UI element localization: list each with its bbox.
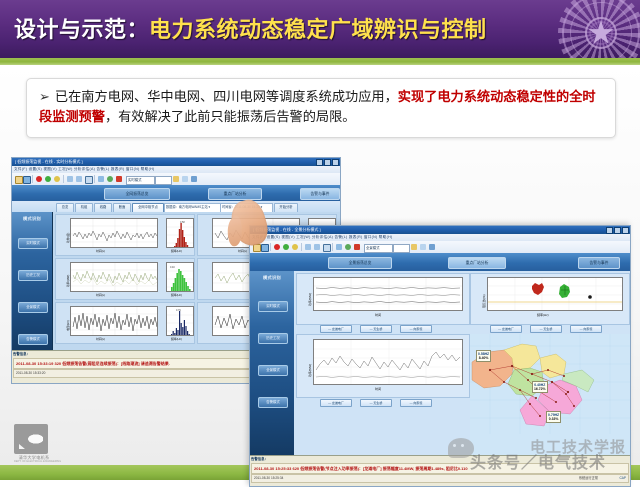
win2-legend-chip-b1[interactable]: — 天生桥 (360, 399, 392, 407)
win2-sidebar-item-alarm[interactable]: 告警模式 (258, 397, 288, 408)
record-icon[interactable] (36, 176, 42, 182)
toolbar-separator (332, 243, 333, 251)
map-tag-1[interactable]: 0.40HZ 16.72% (532, 381, 548, 393)
maximize-icon[interactable] (324, 159, 331, 166)
win2-xlabel-top-right: 频率(Hz) (537, 313, 549, 317)
win2-legend-chip-r0[interactable]: — 龙滩电厂 (490, 325, 522, 333)
tsinghua-seal-icon (558, 0, 640, 58)
select-icon[interactable] (85, 176, 93, 184)
win2-legend-chip-b0[interactable]: — 龙滩电厂 (320, 399, 352, 407)
pause-icon[interactable] (54, 176, 60, 182)
zoom-out-icon[interactable] (76, 176, 82, 182)
win1-status-header: 告警信息： (13, 352, 30, 357)
histogram-xlabel-3: 频率(Hz) (171, 337, 182, 341)
stop-icon[interactable] (116, 176, 122, 182)
waveform-xlabel-2: 时间(s) (96, 293, 105, 297)
refresh-icon[interactable] (107, 176, 113, 182)
win2-ylabel-bottom-left: 功率/(MW) (308, 364, 312, 377)
stop-icon[interactable] (354, 244, 360, 250)
histogram-xlabel-1: 频率(Hz) (171, 249, 182, 253)
win1-sidebar-header: 模式识别 (12, 216, 52, 222)
win2-chart-bottom-left[interactable] (313, 339, 463, 385)
print-icon[interactable] (182, 176, 188, 182)
win2-status-cap: CAP (619, 475, 626, 482)
waveform-ylabel-2: 功率/(MW) (66, 275, 70, 287)
close-icon[interactable] (332, 159, 339, 166)
map-tag-2-hz: 0.79HZ (548, 413, 559, 417)
bullet-segment-3: ，有效解决了此前只能振荡后告警的局限。 (105, 110, 356, 125)
minimize-icon[interactable] (316, 159, 323, 166)
bullet-callout-box: ➢已在南方电网、华中电网、四川电网等调度系统成功应用，实现了电力系统动态稳定性的… (26, 78, 616, 138)
pause-icon[interactable] (292, 244, 298, 250)
lock-icon[interactable] (173, 176, 179, 182)
ribbon-button-0[interactable]: 全网振荡总览 (104, 188, 170, 200)
grid-icon[interactable] (98, 176, 104, 182)
watermark-bottom-text: 头条号／电气技术 (470, 449, 606, 473)
map-tag-0[interactable]: 0.58HZ 8.40% (476, 350, 491, 362)
scale-combo[interactable] (155, 176, 172, 185)
minimize-icon[interactable] (606, 227, 613, 234)
grid-icon[interactable] (336, 244, 342, 250)
win2-sidebar-header: 模式识别 (250, 275, 294, 281)
record-icon[interactable] (274, 244, 280, 250)
map-tag-2-pct: 0.33% (549, 417, 559, 421)
zoom-in-icon[interactable] (67, 176, 73, 182)
win2-status-header: 告警信息： (251, 457, 268, 462)
mode-combo[interactable]: 全景模式 (364, 244, 393, 253)
win2-panel-bottom-left[interactable]: 时间 功率/(MW) (296, 334, 470, 398)
ribbon-button-2[interactable]: 告警与事件 (300, 188, 340, 200)
svg-text:0.40: 0.40 (170, 266, 175, 269)
win2-legend-chip-r1[interactable]: — 天生桥 (530, 325, 562, 333)
win2-sidebar-item-panorama[interactable]: 全景模式 (258, 365, 288, 376)
histogram-plot-2[interactable]: 0.40 (166, 262, 194, 292)
win1-sidebar: 模式识别 实时模式 历史工况 全景模式 告警模式 (12, 212, 53, 351)
zoom-in-icon[interactable] (305, 244, 311, 250)
win2-sidebar-item-history[interactable]: 历史工况 (258, 333, 288, 344)
slide-header: 设计与示范：电力系统动态稳定广域辨识与控制 (0, 0, 640, 58)
scale-combo[interactable] (393, 244, 410, 253)
sidebar-item-history[interactable]: 历史工况 (18, 270, 48, 281)
map-tag-1-pct: 16.72% (534, 387, 546, 391)
new-icon[interactable] (15, 176, 23, 184)
win2-window-controls[interactable] (606, 227, 629, 234)
chart-cell-r1c1[interactable]: 时间(s) 功角/(度) (55, 214, 195, 256)
slide-body: ➢已在南方电网、华中电网、四川电网等调度系统成功应用，实现了电力系统动态稳定性的… (0, 65, 640, 465)
chart-cell-r2c1[interactable]: 时间(s) 功率/(MW) (55, 258, 195, 300)
waveform-ylabel-3: 电压/(kV) (66, 320, 70, 331)
histogram-plot-1[interactable]: 0.58 (166, 218, 194, 248)
win2-legend-chip-l2[interactable]: — 向家坝 (400, 325, 432, 333)
win2-sidebar: 模式识别 实时模式 历史工况 全景模式 告警模式 (250, 271, 295, 456)
sidebar-item-realtime[interactable]: 实时模式 (18, 238, 48, 249)
win2-xlabel-bottom-left: 时间 (375, 387, 381, 391)
svg-text:0.58: 0.58 (180, 221, 185, 224)
waveform-ylabel-1: 功角/(度) (66, 233, 70, 243)
map-tag-0-pct: 8.40% (479, 356, 489, 360)
win1-status-time: 2011-08-30 15:33:20 (16, 371, 45, 375)
select-icon[interactable] (323, 244, 331, 252)
win2-ylabel-top-right: 阻尼比/(%) (482, 294, 486, 308)
close-icon[interactable] (622, 227, 629, 234)
win1-ribbon: 全网振荡总览 重点厂站分析 告警与事件 (12, 185, 340, 202)
win2-panel-top-left[interactable]: 时间 功率/(MW) (296, 273, 470, 325)
map-tag-1-hz: 0.40HZ (534, 383, 545, 387)
win2-ribbon-button-1[interactable]: 重点厂站分析 (448, 257, 506, 269)
waveform-plot-1[interactable] (70, 218, 158, 248)
toolbar-separator (63, 175, 64, 183)
waveform-xlabel-4: 时间(s) (238, 249, 247, 253)
win2-legend-chip-l0[interactable]: — 龙滩电厂 (320, 325, 352, 333)
win1-window-controls[interactable] (316, 159, 339, 166)
lock-icon[interactable] (411, 244, 417, 250)
win2-status-time: 2011-08-30 15:25:34 (254, 476, 283, 480)
waveform-plot-3[interactable] (70, 306, 158, 336)
mode-combo[interactable]: 实时模式 (126, 176, 155, 185)
play-icon[interactable] (283, 244, 289, 250)
histogram-plot-3[interactable]: 0.79 (166, 306, 194, 336)
win2-panel-top-right[interactable]: 频率(Hz) 阻尼比/(%) (470, 273, 630, 325)
bullet-text: 已在南方电网、华中电网、四川电网等调度系统成功应用，实现了电力系统动态稳定性的全… (39, 90, 596, 125)
histogram-xlabel-2: 频率(Hz) (171, 293, 182, 297)
maximize-icon[interactable] (614, 227, 621, 234)
waveform-plot-2[interactable] (70, 262, 158, 292)
map-tag-0-hz: 0.58HZ (478, 352, 489, 356)
sidebar-item-alarm[interactable]: 告警模式 (18, 334, 48, 345)
win1-titlebar[interactable]: [ 低频振荡监视 - 在线 - 实时分析模式 ] (12, 158, 340, 166)
win2-chart-top-left[interactable] (313, 277, 463, 311)
win2-legend-chip-b2[interactable]: — 向家坝 (400, 399, 432, 407)
toolbar-separator (301, 243, 302, 251)
refresh-icon[interactable] (345, 244, 351, 250)
play-icon[interactable] (45, 176, 51, 182)
win2-sidebar-item-realtime[interactable]: 实时模式 (258, 301, 288, 312)
win2-legend-chip-r2[interactable]: — 向家坝 (570, 325, 602, 333)
help-icon[interactable] (429, 244, 435, 250)
toolbar-separator (270, 243, 271, 251)
logo-mark-icon (14, 424, 48, 454)
save-icon[interactable] (261, 244, 269, 252)
toolbar-separator (32, 175, 33, 183)
win2-ribbon-button-2[interactable]: 告警与事件 (578, 257, 620, 269)
win2-legend-chip-l1[interactable]: — 天生桥 (360, 325, 392, 333)
svg-text:0.79: 0.79 (176, 309, 181, 312)
win2-titlebar[interactable]: [ 低频振荡监视 - 在线 - 全景分析模式 ] (250, 226, 630, 234)
title-prefix: 设计与示范： (14, 17, 149, 42)
watermark: 电工技术学报 头条号／电气技术 (442, 436, 632, 470)
print-icon[interactable] (420, 244, 426, 250)
save-icon[interactable] (23, 176, 31, 184)
logo-caption-en: DEPT. OF ELECTRICAL ENGINEERING (14, 460, 54, 463)
toolbar-separator (94, 175, 95, 183)
chart-cell-r3c1[interactable]: 时间(s) 电压/(kV) (55, 302, 195, 344)
zoom-out-icon[interactable] (314, 244, 320, 250)
win2-ribbon: 全景振荡总览 重点厂站分析 告警与事件 (250, 253, 630, 272)
ribbon-button-1[interactable]: 重点厂站分析 (208, 188, 262, 200)
win2-ribbon-button-0[interactable]: 全景振荡总览 (328, 257, 392, 269)
win2-chart-top-right[interactable] (487, 277, 623, 311)
waveform-xlabel-1: 时间(s) (96, 249, 105, 253)
win2-content: 时间 功率/(MW) (294, 271, 630, 456)
sidebar-item-panorama[interactable]: 全景模式 (18, 302, 48, 313)
win1-title-text: [ 低频振荡监视 - 在线 - 实时分析模式 ] (15, 159, 83, 164)
header-divider (0, 58, 640, 65)
help-icon[interactable] (191, 176, 197, 182)
win2-ylabel-top-left: 功率/(MW) (308, 293, 312, 306)
waveform-xlabel-3: 时间(s) (96, 337, 105, 341)
win2-status-bottom: 2011-08-30 15:25:34 系统运行正常 CAP (251, 474, 629, 483)
page-title: 设计与示范：电力系统动态稳定广域辨识与控制 (14, 12, 487, 44)
tsinghua-dept-logo: 清华大学电机系 DEPT. OF ELECTRICAL ENGINEERING (14, 424, 54, 464)
title-main: 电力系统动态稳定广域辨识与控制 (149, 17, 487, 42)
bullet-segment-1: 已在南方电网、华中电网、四川电网等调度系统成功应用， (55, 90, 398, 105)
bullet-arrow-icon: ➢ (39, 90, 50, 103)
win2-status-state: 系统运行正常 (579, 475, 598, 482)
win2-xlabel-top-left: 时间 (375, 313, 381, 317)
map-tag-2[interactable]: 0.79HZ 0.33% (546, 411, 561, 423)
